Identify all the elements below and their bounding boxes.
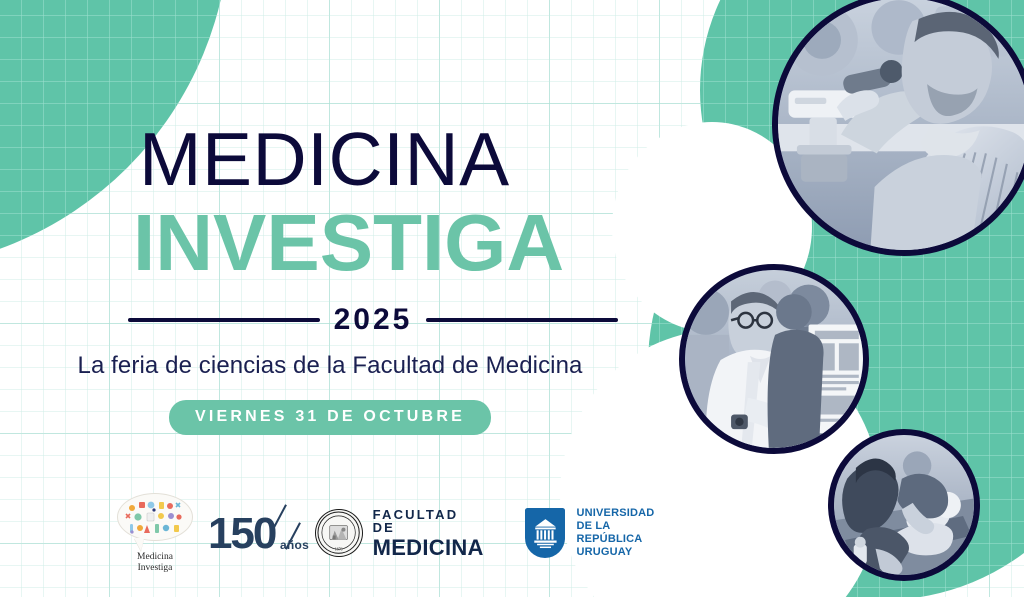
headline-block: MEDICINA INVESTIGA 2025 La feria de cien… [0, 0, 660, 597]
150-anios-logo: 150 años [208, 505, 301, 561]
anniversary-word: años [280, 538, 309, 552]
udelar-line3: URUGUAY [576, 546, 672, 559]
year-label: 2025 [334, 303, 413, 337]
udelar-wordmark: UNIVERSIDAD DE LA REPÚBLICA URUGUAY [576, 507, 672, 559]
photo-microscope-image [778, 0, 1024, 250]
photo-cpr-training-image [834, 435, 974, 575]
photo-poster-session [679, 264, 869, 454]
rule-right [426, 318, 618, 322]
udelar-shield-icon [525, 508, 566, 558]
facultad-line2: MEDICINA [373, 537, 485, 559]
page-title-line1: MEDICINA [139, 122, 510, 196]
facultad-wordmark: FACULTAD DE MEDICINA [373, 508, 485, 559]
udelar-building-icon [525, 508, 566, 554]
date-badge-wrapper: VIERNES 31 DE OCTUBRE [0, 400, 660, 435]
speech-bubble-icon [117, 493, 193, 541]
svg-text:1876: 1876 [335, 547, 343, 551]
status-badge-date: VIERNES 31 DE OCTUBRE [169, 400, 491, 435]
medicina-investiga-caption: Medicina Investiga [137, 552, 173, 574]
universidad-de-la-republica-logo: UNIVERSIDAD DE LA REPÚBLICA URUGUAY [525, 507, 672, 559]
facultad-de-medicina-logo: 1876 FACULTAD DE MEDICINA [315, 508, 484, 559]
mi-caption-line1: Medicina [137, 552, 173, 563]
udelar-line1: UNIVERSIDAD [576, 507, 672, 520]
photo-cpr-training [828, 429, 980, 581]
photo-poster-session-image [685, 270, 863, 448]
year-row: 2025 [128, 298, 618, 342]
microscope-scene-icon [778, 0, 1024, 250]
facultad-seal-icon: 1876 [315, 509, 362, 557]
poster-session-scene-icon [685, 270, 863, 448]
logo-strip: Medicina Investiga 150 años [112, 488, 672, 578]
science-icons-cluster-icon [118, 494, 192, 540]
tagline: La feria de ciencias de la Facultad de M… [0, 352, 660, 380]
cpr-training-scene-icon [834, 435, 974, 575]
page-title-line2: INVESTIGA [133, 204, 564, 282]
medicina-investiga-logo: Medicina Investiga [112, 493, 198, 574]
rule-left [128, 318, 320, 322]
mi-caption-line2: Investiga [137, 563, 173, 574]
seal-engraving-icon: 1876 [316, 510, 361, 555]
udelar-line2: DE LA REPÚBLICA [576, 520, 672, 546]
poster-canvas: MEDICINA INVESTIGA 2025 La feria de cien… [0, 0, 1024, 597]
facultad-line1: FACULTAD DE [373, 508, 485, 534]
anniversary-number: 150 [208, 509, 275, 559]
